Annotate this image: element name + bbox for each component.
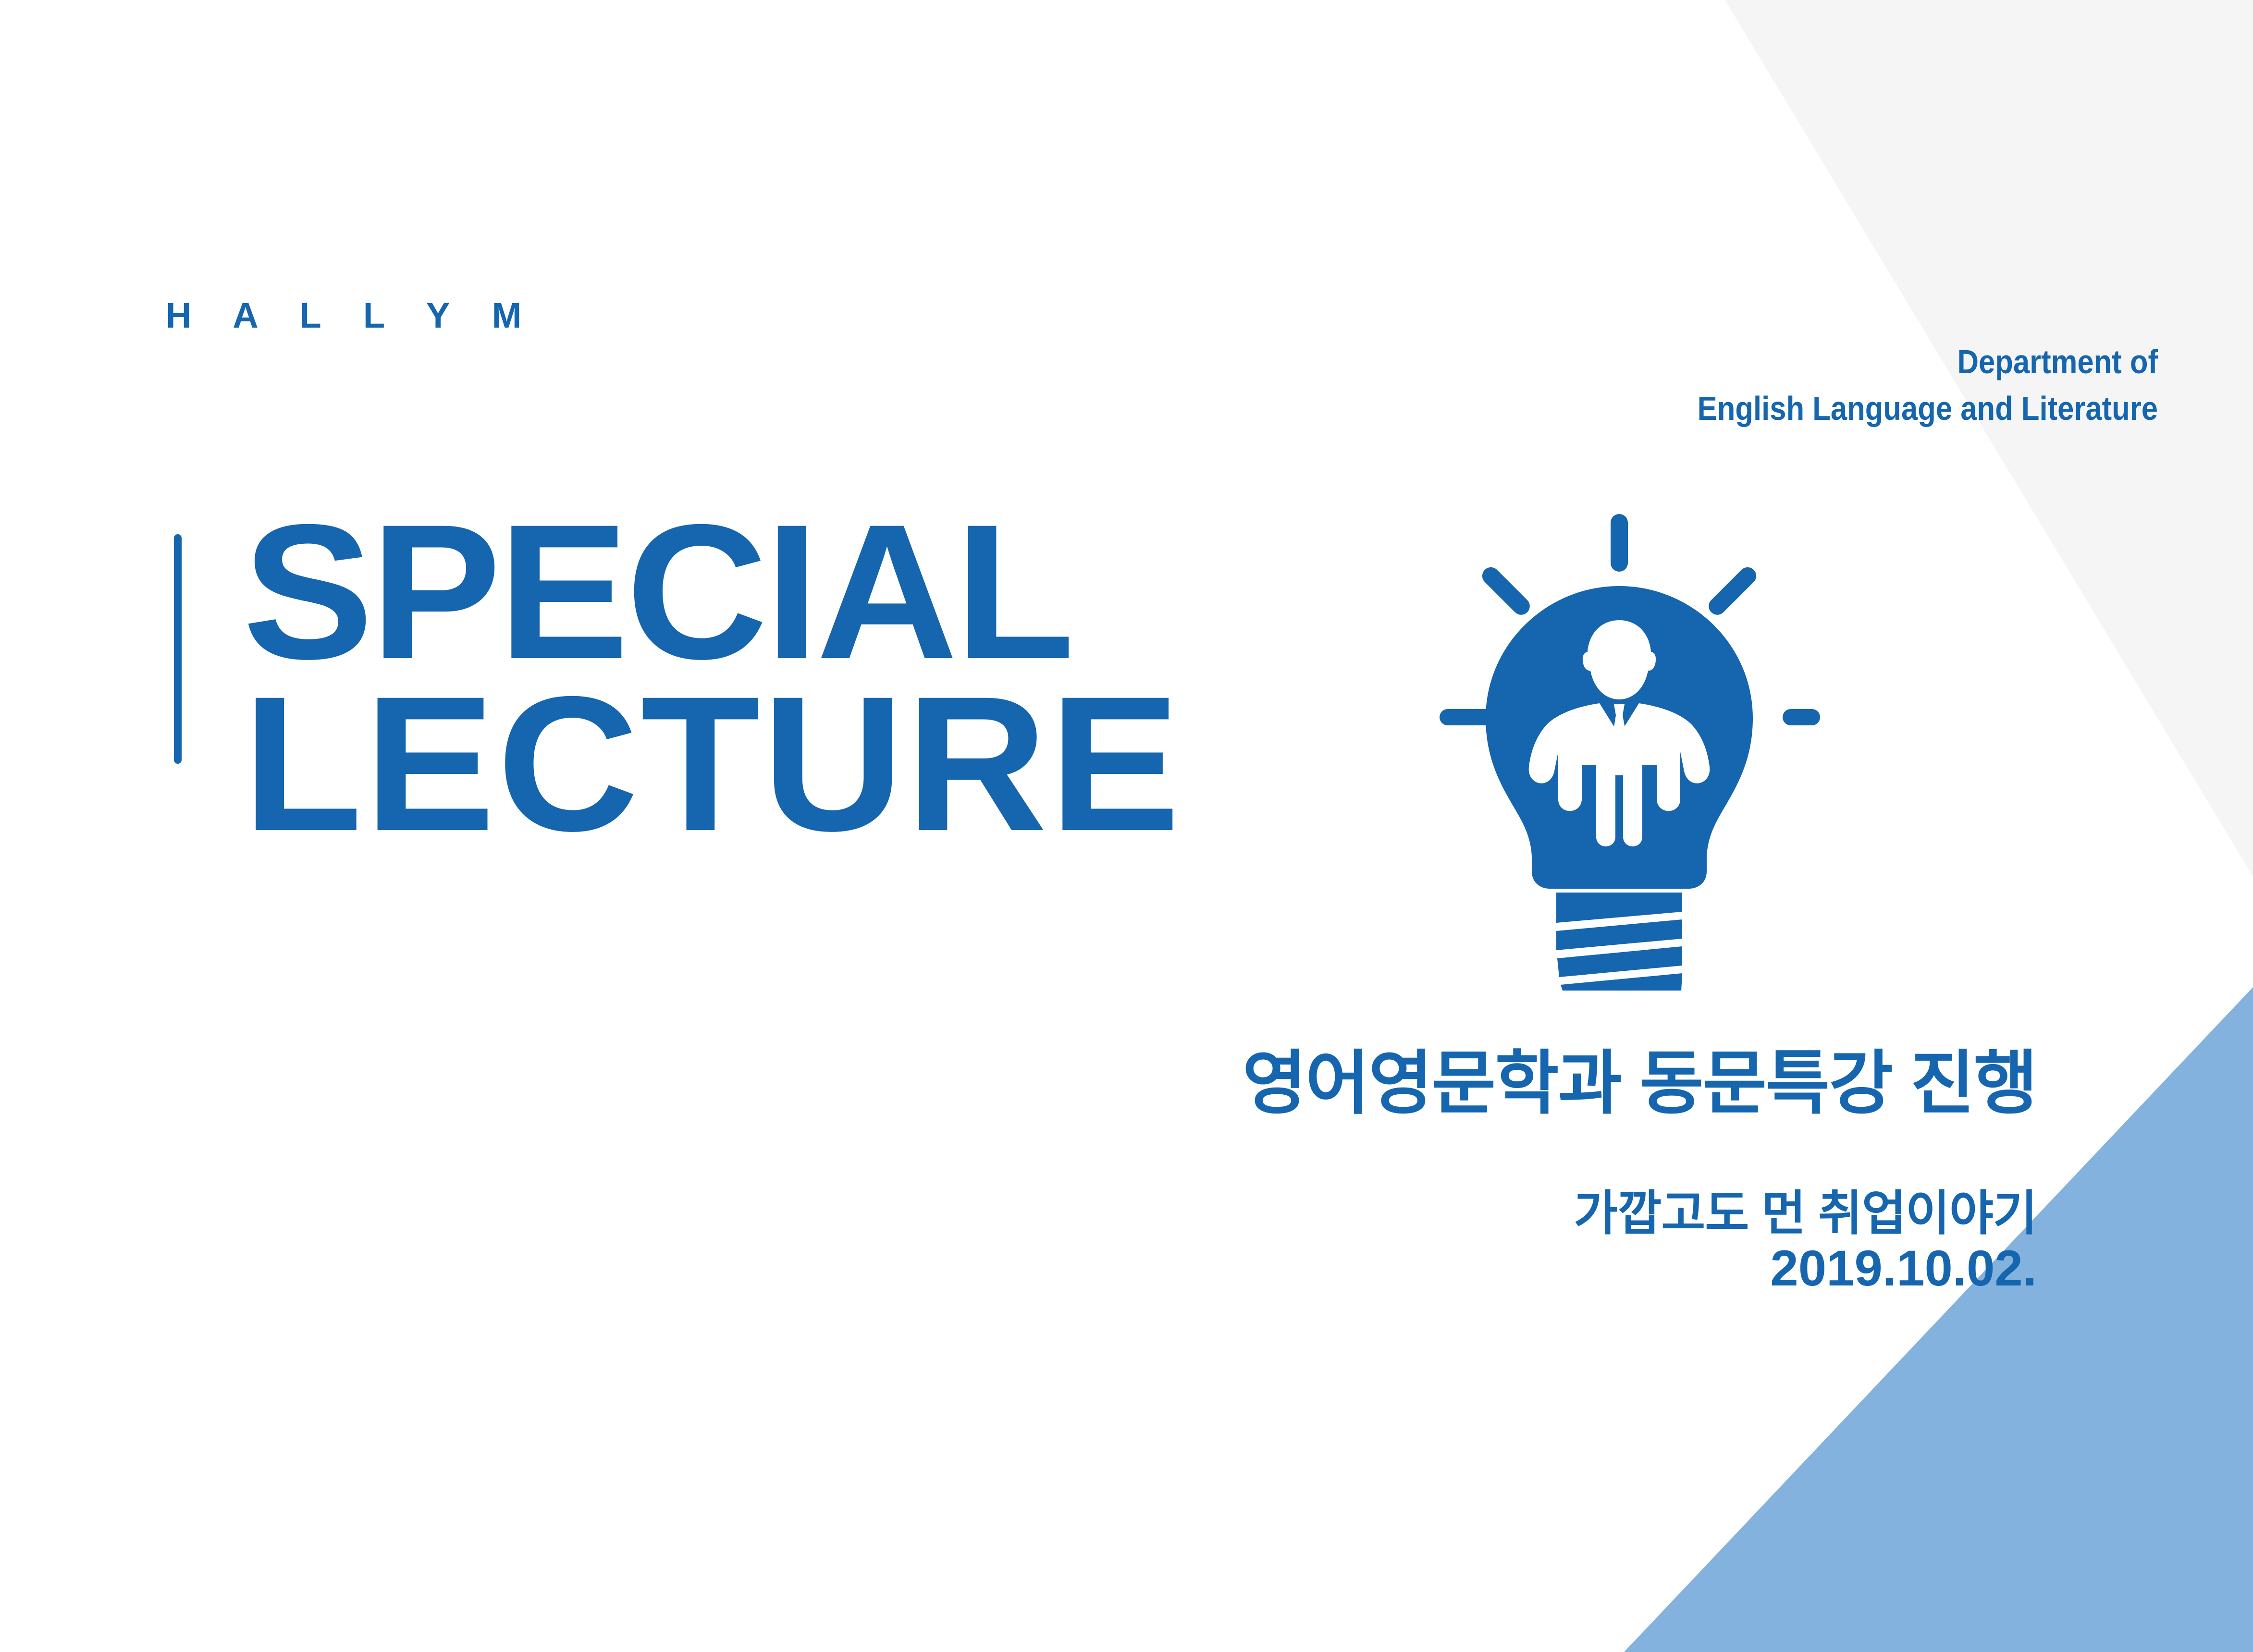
event-date: 2019.10.02.: [1574, 1240, 2037, 1297]
korean-headline: 영어영문학과 동문특강 진행: [1243, 1049, 2037, 1118]
bulb-ray-upper-left: [1478, 563, 1533, 618]
bulb-ray-upper-right: [1705, 563, 1760, 618]
korean-subtitle-block: 가깝고도 먼 취업이야기 2019.10.02.: [1574, 1187, 2037, 1297]
bulb-base-thread-2: [1556, 919, 1682, 950]
bulb-base-thread-1: [1556, 893, 1682, 923]
korean-subtitle: 가깝고도 먼 취업이야기: [1574, 1187, 2037, 1240]
bulb-base-thread-4: [1561, 973, 1682, 991]
poster-slide: H A L L Y M Department of English Langua…: [0, 0, 2253, 1652]
title-line-special: SPECIAL: [243, 509, 1182, 674]
title-line-lecture: LECTURE: [243, 681, 1182, 846]
department-line-1: Department of: [1698, 339, 2158, 385]
lightbulb-with-businessman-icon: [1416, 505, 1820, 991]
title-accent-bar: [174, 534, 182, 764]
page-title: SPECIAL LECTURE: [243, 509, 1164, 846]
hallym-wordmark: H A L L Y M: [166, 298, 538, 333]
bulb-ray-top: [1611, 514, 1628, 572]
bulb-base-thread-3: [1557, 946, 1682, 977]
department-line-2: English Language and Literature: [1698, 385, 2158, 432]
bulb-ray-right: [1783, 709, 1820, 725]
department-label: Department of English Language and Liter…: [1698, 339, 2158, 431]
